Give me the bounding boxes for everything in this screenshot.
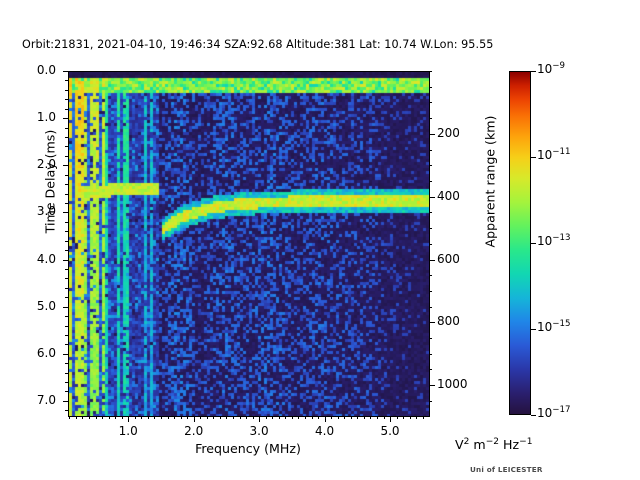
y-tick-major xyxy=(63,307,69,308)
x-tick-minor xyxy=(213,416,214,419)
y-tick-minor xyxy=(65,99,68,100)
y-tick-minor xyxy=(65,269,68,270)
right-tick-minor xyxy=(429,401,432,402)
x-tick-minor xyxy=(168,416,169,419)
y-tick-minor xyxy=(65,194,68,195)
y-tick-major xyxy=(63,165,69,166)
y-tick-minor xyxy=(65,146,68,147)
colorbar-tick-label: 10−13 xyxy=(537,234,570,248)
x-axis-title: Frequency (MHz) xyxy=(68,441,428,456)
ionogram-heatmap xyxy=(69,72,429,416)
right-tick-major xyxy=(429,134,435,135)
x-tick-minor xyxy=(266,416,267,419)
y-tick-minor xyxy=(65,297,68,298)
x-tick-minor xyxy=(357,416,358,419)
right-tick-major xyxy=(429,260,435,261)
y-tick-minor xyxy=(65,391,68,392)
x-tick-minor xyxy=(272,416,273,419)
x-tick-minor xyxy=(161,416,162,419)
x-tick-minor xyxy=(423,416,424,419)
figure-canvas: Orbit:21831, 2021-04-10, 19:46:34 SZA:92… xyxy=(0,0,640,480)
y-tick-minor xyxy=(65,335,68,336)
colorbar-unit-label: V2 m−2 Hz−1 xyxy=(455,437,533,452)
x-tick-minor xyxy=(377,416,378,419)
colorbar-tick xyxy=(531,157,536,158)
right-axis-title: Apparent range (km) xyxy=(483,82,498,282)
y-tick-minor xyxy=(65,90,68,91)
x-tick-minor xyxy=(318,416,319,419)
y-tick-minor xyxy=(65,80,68,81)
y-tick-minor xyxy=(65,184,68,185)
colorbar xyxy=(509,71,531,415)
y-tick-minor xyxy=(65,363,68,364)
y-tick-minor xyxy=(65,250,68,251)
x-tick-label: 2.0 xyxy=(164,424,224,438)
y-tick-minor xyxy=(65,203,68,204)
right-tick-label: 400 xyxy=(437,189,460,203)
x-tick-minor xyxy=(416,416,417,419)
y-tick-minor xyxy=(65,382,68,383)
ionogram-plot-area[interactable] xyxy=(68,71,430,417)
x-tick-minor xyxy=(154,416,155,419)
x-tick-minor xyxy=(122,416,123,419)
right-tick-minor xyxy=(429,307,432,308)
right-tick-minor xyxy=(429,354,432,355)
x-tick-minor xyxy=(240,416,241,419)
right-tick-minor xyxy=(429,118,432,119)
x-tick-minor xyxy=(115,416,116,419)
colorbar-tick xyxy=(531,71,536,72)
y-tick-minor xyxy=(65,175,68,176)
right-tick-minor xyxy=(429,150,432,151)
x-tick-minor xyxy=(181,416,182,419)
y-tick-minor xyxy=(65,109,68,110)
x-tick-minor xyxy=(410,416,411,419)
x-tick-major xyxy=(325,416,326,422)
x-tick-minor xyxy=(135,416,136,419)
y-tick-label: 6.0 xyxy=(8,346,56,360)
right-tick-minor xyxy=(429,275,432,276)
y-tick-minor xyxy=(65,128,68,129)
x-tick-minor xyxy=(148,416,149,419)
y-tick-minor xyxy=(65,316,68,317)
x-tick-minor xyxy=(141,416,142,419)
right-tick-major xyxy=(429,385,435,386)
x-tick-minor xyxy=(331,416,332,419)
right-tick-minor xyxy=(429,369,432,370)
x-tick-minor xyxy=(89,416,90,419)
x-tick-minor xyxy=(226,416,227,419)
x-tick-minor xyxy=(96,416,97,419)
x-tick-minor xyxy=(102,416,103,419)
colorbar-tick-label: 10−15 xyxy=(537,320,570,334)
y-tick-minor xyxy=(65,222,68,223)
x-tick-minor xyxy=(220,416,221,419)
right-tick-label: 1000 xyxy=(437,377,468,391)
x-tick-minor xyxy=(370,416,371,419)
x-tick-label: 3.0 xyxy=(229,424,289,438)
y-tick-minor xyxy=(65,410,68,411)
right-tick-label: 800 xyxy=(437,314,460,328)
y-tick-major xyxy=(63,354,69,355)
y-tick-minor xyxy=(65,156,68,157)
right-tick-minor xyxy=(429,212,432,213)
y-tick-minor xyxy=(65,326,68,327)
y-tick-label: 7.0 xyxy=(8,393,56,407)
y-tick-minor xyxy=(65,288,68,289)
x-tick-minor xyxy=(69,416,70,419)
y-tick-label: 5.0 xyxy=(8,299,56,313)
x-tick-major xyxy=(259,416,260,422)
watermark-label: Uni of LEICESTER xyxy=(470,465,543,474)
x-tick-label: 1.0 xyxy=(98,424,158,438)
colorbar-tick xyxy=(531,329,536,330)
x-tick-minor xyxy=(207,416,208,419)
x-tick-minor xyxy=(279,416,280,419)
x-tick-label: 4.0 xyxy=(295,424,355,438)
right-tick-label: 200 xyxy=(437,126,460,140)
x-tick-minor xyxy=(233,416,234,419)
colorbar-tick xyxy=(531,243,536,244)
colorbar-tick-label: 10−11 xyxy=(537,148,570,162)
x-tick-minor xyxy=(344,416,345,419)
right-tick-minor xyxy=(429,102,432,103)
x-tick-minor xyxy=(76,416,77,419)
colorbar-tick-label: 10−9 xyxy=(537,62,565,76)
x-tick-minor xyxy=(364,416,365,419)
right-tick-major xyxy=(429,197,435,198)
colorbar-tick xyxy=(531,415,536,416)
y-tick-major xyxy=(63,212,69,213)
colorbar-tick-label: 10−17 xyxy=(537,406,570,420)
y-tick-major xyxy=(63,260,69,261)
x-tick-minor xyxy=(109,416,110,419)
right-tick-minor xyxy=(429,244,432,245)
x-tick-minor xyxy=(305,416,306,419)
y-tick-major xyxy=(63,118,69,119)
x-tick-minor xyxy=(187,416,188,419)
right-tick-minor xyxy=(429,165,432,166)
x-tick-minor xyxy=(253,416,254,419)
x-tick-minor xyxy=(246,416,247,419)
y-tick-minor xyxy=(65,344,68,345)
y-tick-major xyxy=(63,71,69,72)
right-tick-major xyxy=(429,322,435,323)
right-tick-minor xyxy=(429,291,432,292)
y-axis-title: Time Delay (ms) xyxy=(43,82,58,282)
right-tick-minor xyxy=(429,181,432,182)
y-tick-minor xyxy=(65,373,68,374)
y-tick-minor xyxy=(65,231,68,232)
x-tick-minor xyxy=(338,416,339,419)
x-tick-minor xyxy=(403,416,404,419)
y-tick-minor xyxy=(65,241,68,242)
right-tick-minor xyxy=(429,338,432,339)
y-tick-major xyxy=(63,401,69,402)
x-tick-minor xyxy=(285,416,286,419)
x-tick-major xyxy=(390,416,391,422)
x-tick-label: 5.0 xyxy=(360,424,420,438)
x-tick-minor xyxy=(351,416,352,419)
y-tick-label: 0.0 xyxy=(8,63,56,77)
right-tick-label: 600 xyxy=(437,252,460,266)
y-tick-minor xyxy=(65,278,68,279)
x-tick-minor xyxy=(200,416,201,419)
figure-title: Orbit:21831, 2021-04-10, 19:46:34 SZA:92… xyxy=(22,38,493,51)
x-tick-minor xyxy=(174,416,175,419)
right-tick-minor xyxy=(429,228,432,229)
x-tick-minor xyxy=(298,416,299,419)
x-tick-minor xyxy=(82,416,83,419)
y-tick-minor xyxy=(65,137,68,138)
right-tick-minor xyxy=(429,71,432,72)
x-tick-major xyxy=(194,416,195,422)
x-tick-major xyxy=(128,416,129,422)
x-tick-minor xyxy=(312,416,313,419)
x-tick-minor xyxy=(384,416,385,419)
right-tick-minor xyxy=(429,87,432,88)
x-tick-minor xyxy=(292,416,293,419)
x-tick-minor xyxy=(397,416,398,419)
